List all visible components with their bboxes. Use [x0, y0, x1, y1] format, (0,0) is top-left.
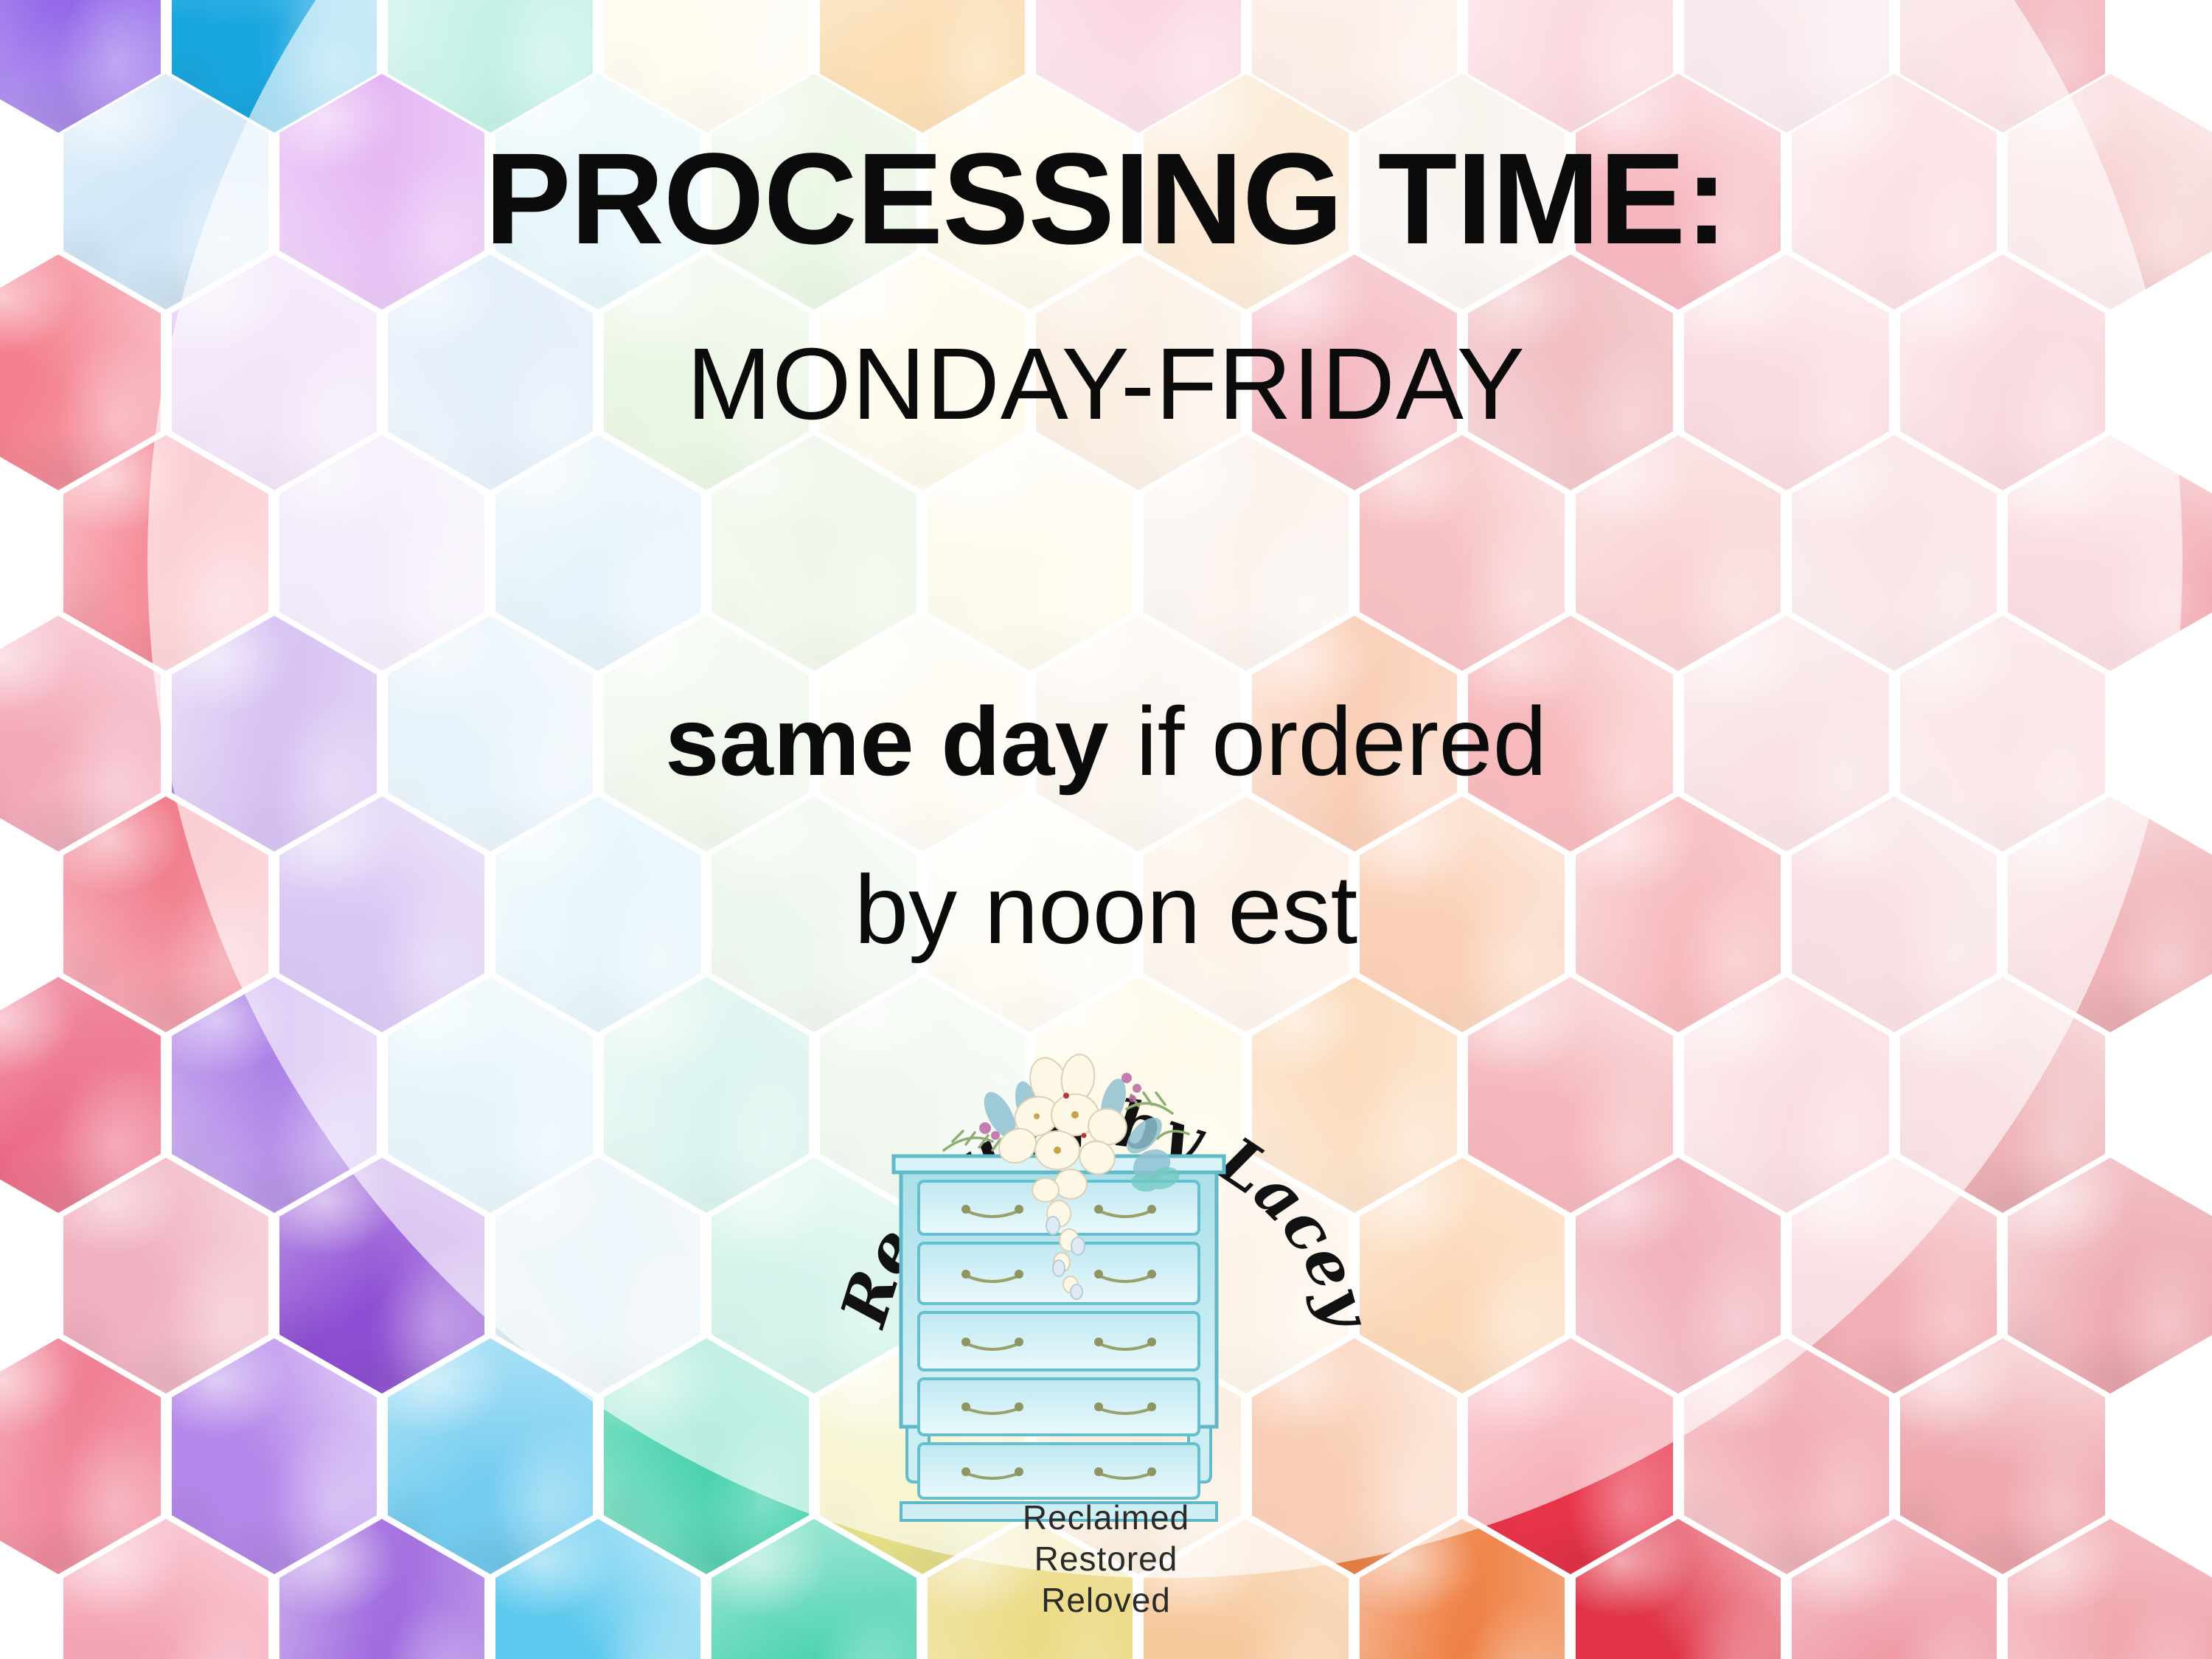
brand-logo[interactable]: Rescued by Lacey [855, 1025, 1357, 1607]
logo-tagline: Reclaimed Restored Reloved [936, 1497, 1276, 1621]
promo-line-2: by noon est [0, 861, 2212, 959]
tagline-line-3: Reloved [936, 1579, 1276, 1621]
tagline-line-2: Restored [936, 1538, 1276, 1579]
promo-line-1-rest: if ordered [1109, 687, 1547, 796]
subtitle-days: MONDAY-FRIDAY [0, 333, 2212, 435]
promo-line-1: same day if ordered [0, 693, 2212, 790]
page-title: PROCESSING TIME: [0, 134, 2212, 264]
poster-canvas: PROCESSING TIME: MONDAY-FRIDAY same day … [0, 0, 2212, 1659]
promo-emphasis: same day [665, 687, 1109, 796]
tagline-line-1: Reclaimed [936, 1497, 1276, 1538]
